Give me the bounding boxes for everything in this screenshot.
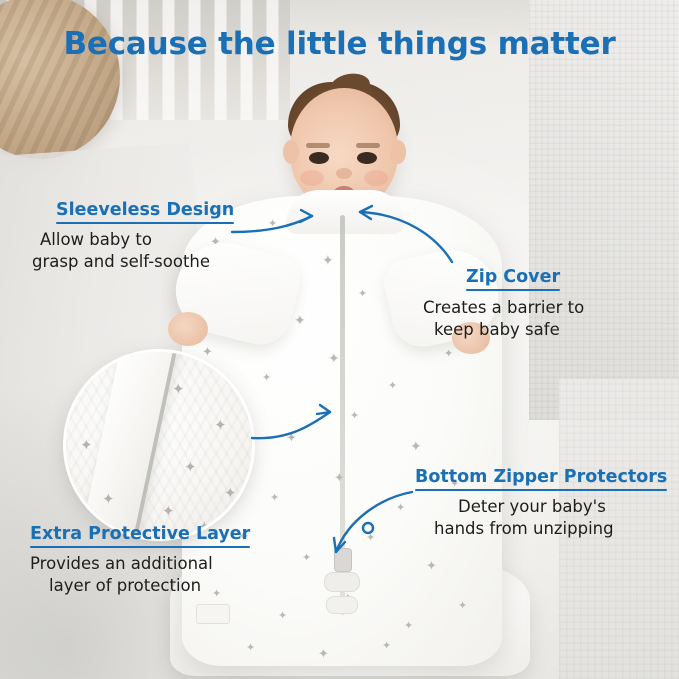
bottom-zipper-protector-upper bbox=[324, 572, 360, 592]
baby-ear-left bbox=[283, 140, 299, 164]
brand-tag bbox=[196, 604, 230, 624]
baby-eye-right bbox=[357, 152, 377, 164]
label-extra-protective-layer: Extra Protective Layer bbox=[30, 524, 250, 548]
baby-eyebrow-left bbox=[306, 143, 330, 148]
label-bottom-zipper-protectors: Bottom Zipper Protectors bbox=[415, 467, 667, 491]
desc-sleeveless-design-line2: grasp and self-soothe bbox=[32, 252, 210, 273]
baby-eye-left bbox=[309, 152, 329, 164]
baby-hand-left bbox=[168, 312, 208, 346]
baby-eyebrow-right bbox=[356, 143, 380, 148]
baby-ear-right bbox=[390, 140, 406, 164]
label-zip-cover: Zip Cover bbox=[466, 267, 560, 291]
sleep-sack-collar bbox=[286, 190, 404, 234]
crib-mesh-liner-right bbox=[529, 0, 679, 420]
label-sleeveless-design: Sleeveless Design bbox=[56, 200, 234, 224]
desc-extra-protective-layer-line2: layer of protection bbox=[49, 576, 201, 597]
page-title: Because the little things matter bbox=[0, 26, 679, 62]
desc-sleeveless-design-line1: Allow baby to bbox=[40, 230, 152, 251]
baby-cheek-right bbox=[364, 170, 388, 186]
desc-bottom-zipper-protectors-line2: hands from unzipping bbox=[434, 519, 614, 540]
product-feature-image: ✦ ✦ ✦ ✦ ✦ ✦ ✦ ✦ ✦ ✦ ✦ ✦ ✦ ✦ ✦ ✦ ✦ ✦ ✦ ✦ … bbox=[0, 0, 679, 679]
bottom-zipper-protector-lower bbox=[326, 596, 358, 614]
desc-zip-cover-line1: Creates a barrier to bbox=[423, 298, 584, 319]
baby-nose bbox=[336, 168, 352, 179]
desc-zip-cover-line2: keep baby safe bbox=[434, 320, 560, 341]
extra-protective-layer-closeup: ✦ ✦ ✦ ✦ ✦ ✦ ✦ ✦ ✦ ✦ bbox=[66, 352, 252, 538]
baby-cheek-left bbox=[300, 170, 324, 186]
desc-extra-protective-layer-line1: Provides an additional bbox=[30, 554, 213, 575]
zipper-pull bbox=[334, 548, 352, 572]
desc-bottom-zipper-protectors-line1: Deter your baby's bbox=[458, 497, 606, 518]
